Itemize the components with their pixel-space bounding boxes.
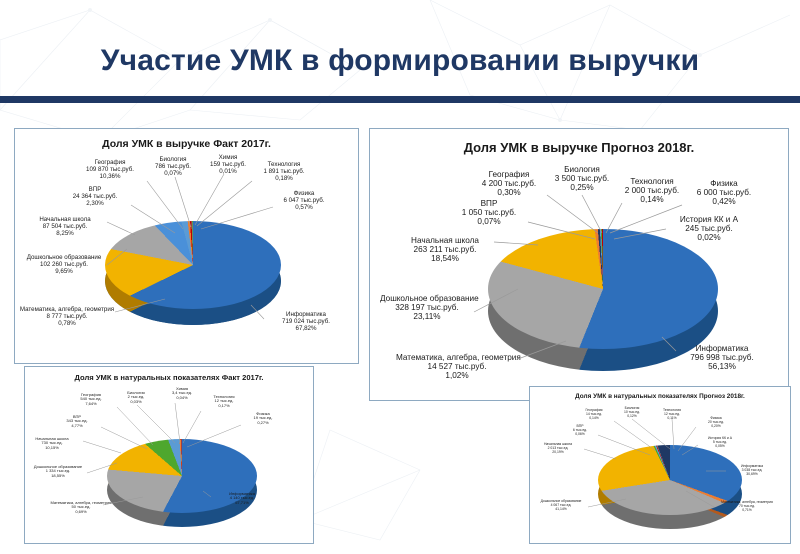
chart-title: Доля УМК в выручке Факт 2017г. xyxy=(15,138,358,150)
pie-label-doshkolnoe-obrazovanie: Дошкольное образование 102 260 тыс.руб. … xyxy=(21,255,107,275)
pie-label-tehnologiya: Технология 1 891 тыс.руб. 0,18% xyxy=(252,162,316,183)
chart-title: Доля УМК в натуральных показателях Прогн… xyxy=(530,393,790,400)
pie-label-nachalnaya-shkola: Начальная школа 263 211 тыс.руб. 18,54% xyxy=(396,236,494,264)
chart-title: Доля УМК в натуральных показателях Факт … xyxy=(25,373,313,382)
pie-label-tehnologiya: Технология 12 тыс.ед. 0,11% xyxy=(652,409,692,420)
chart-panel-forecast-2018-natural: Доля УМК в натуральных показателях Прогн… xyxy=(529,386,791,544)
pie-label-matematika: Математика, алгебра, геометрия 50 тыс.ед… xyxy=(45,501,117,514)
pie-label-doshkolnoe-obrazovanie: Дошкольное образование 1 334 тыс.ед. 18,… xyxy=(29,465,87,478)
pie-label-vpr: ВПР 24 364 тыс.руб. 2,30% xyxy=(59,187,131,208)
pie-label-geografiya: География 540 тыс.ед. 7,64% xyxy=(65,393,117,406)
pie-label-informatika: Информатика 796 998 тыс.руб. 56,13% xyxy=(676,344,768,372)
pie-label-istoriya-kk-i-a: История КК и А 245 тыс.руб. 0,02% xyxy=(666,215,752,243)
pie-label-geografiya: География 4 200 тыс.руб. 0,30% xyxy=(471,170,547,198)
pie-label-doshkolnoe-obrazovanie: Дошкольное образование 4 067 тыс.ед. 41,… xyxy=(534,500,588,511)
pie-label-himiya: Химия 159 тыс.руб. 0,01% xyxy=(199,155,257,176)
pie-chart-forecast-2018-natural xyxy=(598,445,742,537)
pie-label-istoriya-kk-i-a: История КК и А 5 тыс.ед. 0,05% xyxy=(698,437,742,448)
pie-label-vpr: ВПР 1 050 тыс.руб. 0,07% xyxy=(450,199,528,227)
pie-label-informatika: Информатика 3 038 тыс.ед. 30,69% xyxy=(726,465,778,476)
chart-panel-fact-2017-revenue: Доля УМК в выручке Факт 2017г. География… xyxy=(14,128,359,364)
pie-label-biologiya: Биология 2 тыс.ед. 0,03% xyxy=(113,391,159,404)
pie-label-matematika: Математика, алгебра, геометрия 8 777 тыс… xyxy=(19,307,115,328)
pie-label-fizika: Физика 20 тыс.ед. 0,20% xyxy=(696,417,736,428)
pie-label-fizika: Физика 6 047 тыс.руб. 0,57% xyxy=(273,191,335,212)
chart-panel-forecast-2018-revenue: Доля УМК в выручке Прогноз 2018г. Геогра… xyxy=(369,128,789,401)
pie-label-nachalnaya-shkola: Начальная школа 2 013 тыс.ед. 20,19% xyxy=(532,443,584,454)
pie-label-fizika: Физика 19 тыс.ед. 0,27% xyxy=(241,412,285,425)
pie-label-tehnologiya: Технология 12 тыс.ед. 0,17% xyxy=(201,395,247,408)
pie-label-matematika: Математика, алгебра, геометрия 70 тыс.ед… xyxy=(714,501,780,512)
chart-panel-fact-2017-natural: Доля УМК в натуральных показателях Факт … xyxy=(24,366,314,544)
pie-label-nachalnaya-shkola: Начальная школа 87 504 тыс.руб. 8,25% xyxy=(21,217,109,238)
page-title: Участие УМК в формировании выручки xyxy=(0,44,800,78)
pie-label-informatika: Информатика 4 140 тыс.ед. 57,71% xyxy=(211,492,273,505)
pie-label-tehnologiya: Технология 2 000 тыс.руб. 0,14% xyxy=(611,177,693,205)
pie-label-biologiya: Биология 10 тыс.ед. 0,12% xyxy=(612,407,652,418)
pie-label-informatika: Информатика 719 024 тыс.руб. 67,82% xyxy=(264,312,348,333)
pie-label-geografiya: География 14 тыс.ед. 0,14% xyxy=(574,409,614,420)
pie-label-vpr: ВПР 343 тыс.ед. 4,77% xyxy=(53,415,101,428)
pie-chart-fact-2017-revenue xyxy=(105,221,281,331)
pie-label-matematika: Математика, алгебра, геометрия 14 527 ты… xyxy=(396,353,518,381)
pie-label-fizika: Физика 6 000 тыс.руб. 0,42% xyxy=(682,179,766,207)
pie-label-biologiya: Биология 786 тыс.руб. 0,07% xyxy=(143,157,203,178)
pie-label-nachalnaya-shkola: Начальная школа 730 тыс.ед. 10,15% xyxy=(21,437,83,450)
pie-label-vpr: ВПР 6 тыс.ед. 0,06% xyxy=(562,425,598,436)
chart-title: Доля УМК в выручке Прогноз 2018г. xyxy=(370,140,788,155)
title-underline-bar xyxy=(0,96,800,103)
pie-label-doshkolnoe-obrazovanie: Дошкольное образование 328 197 тыс.руб. … xyxy=(380,294,474,322)
pie-label-himiya: Химия 3,4 тыс.ед. 0,04% xyxy=(161,387,203,400)
pie-chart-fact-2017-natural xyxy=(107,439,257,531)
pie-label-geografiya: География 109 870 тыс.руб. 10,36% xyxy=(73,160,147,181)
